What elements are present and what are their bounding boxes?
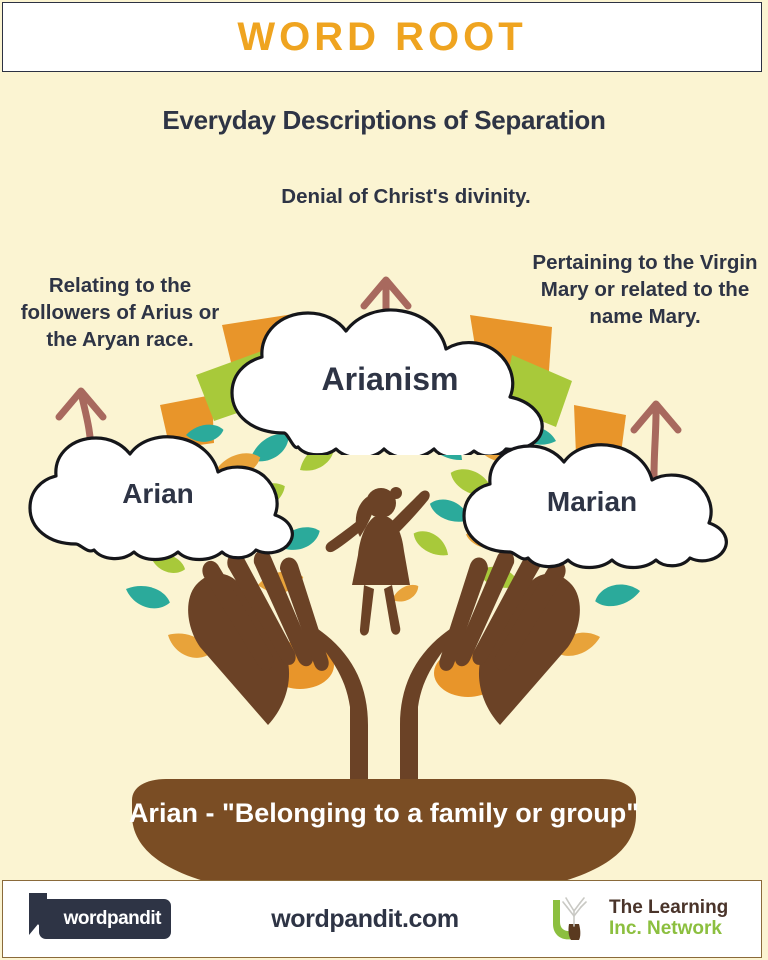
page-title: WORD ROOT	[237, 15, 526, 60]
partner-line-2: Inc. Network	[609, 919, 728, 940]
footer-bar: wordpandit wordpandit.com	[2, 880, 762, 958]
footer-url-wrap: wordpandit.com	[185, 905, 545, 934]
callout-arianism-description: Denial of Christ's divinity.	[268, 183, 544, 210]
header-bar: WORD ROOT	[2, 2, 762, 72]
cloud-label-arianism: Arianism	[222, 361, 558, 398]
cloud-marian[interactable]: Marian	[456, 440, 728, 570]
partner-line-1: The Learning	[609, 898, 728, 919]
infographic-page: WORD ROOT Everyday Descriptions of Separ…	[0, 0, 768, 960]
subtitle: Everyday Descriptions of Separation	[0, 105, 768, 136]
wordpandit-logo-badge: wordpandit	[39, 899, 171, 939]
cloud-label-arian: Arian	[22, 478, 294, 510]
cloud-arian[interactable]: Arian	[22, 432, 294, 562]
learning-network-logo[interactable]: The Learning Inc. Network	[545, 894, 745, 944]
callout-arian-description: Relating to the followers of Arius or th…	[8, 272, 232, 353]
callout-marian-description: Pertaining to the Virgin Mary or related…	[532, 249, 758, 330]
cloud-label-marian: Marian	[456, 486, 728, 518]
learning-network-text: The Learning Inc. Network	[609, 898, 728, 940]
bookmark-icon	[29, 893, 47, 935]
tree-logo-icon	[545, 894, 607, 944]
wordpandit-logo-text: wordpandit	[64, 908, 161, 930]
root-definition-text: Arian - "Belonging to a family or group"	[120, 795, 648, 831]
child-silhouette-icon	[326, 487, 430, 636]
wordpandit-logo[interactable]: wordpandit	[25, 897, 185, 941]
footer-url[interactable]: wordpandit.com	[271, 905, 458, 933]
